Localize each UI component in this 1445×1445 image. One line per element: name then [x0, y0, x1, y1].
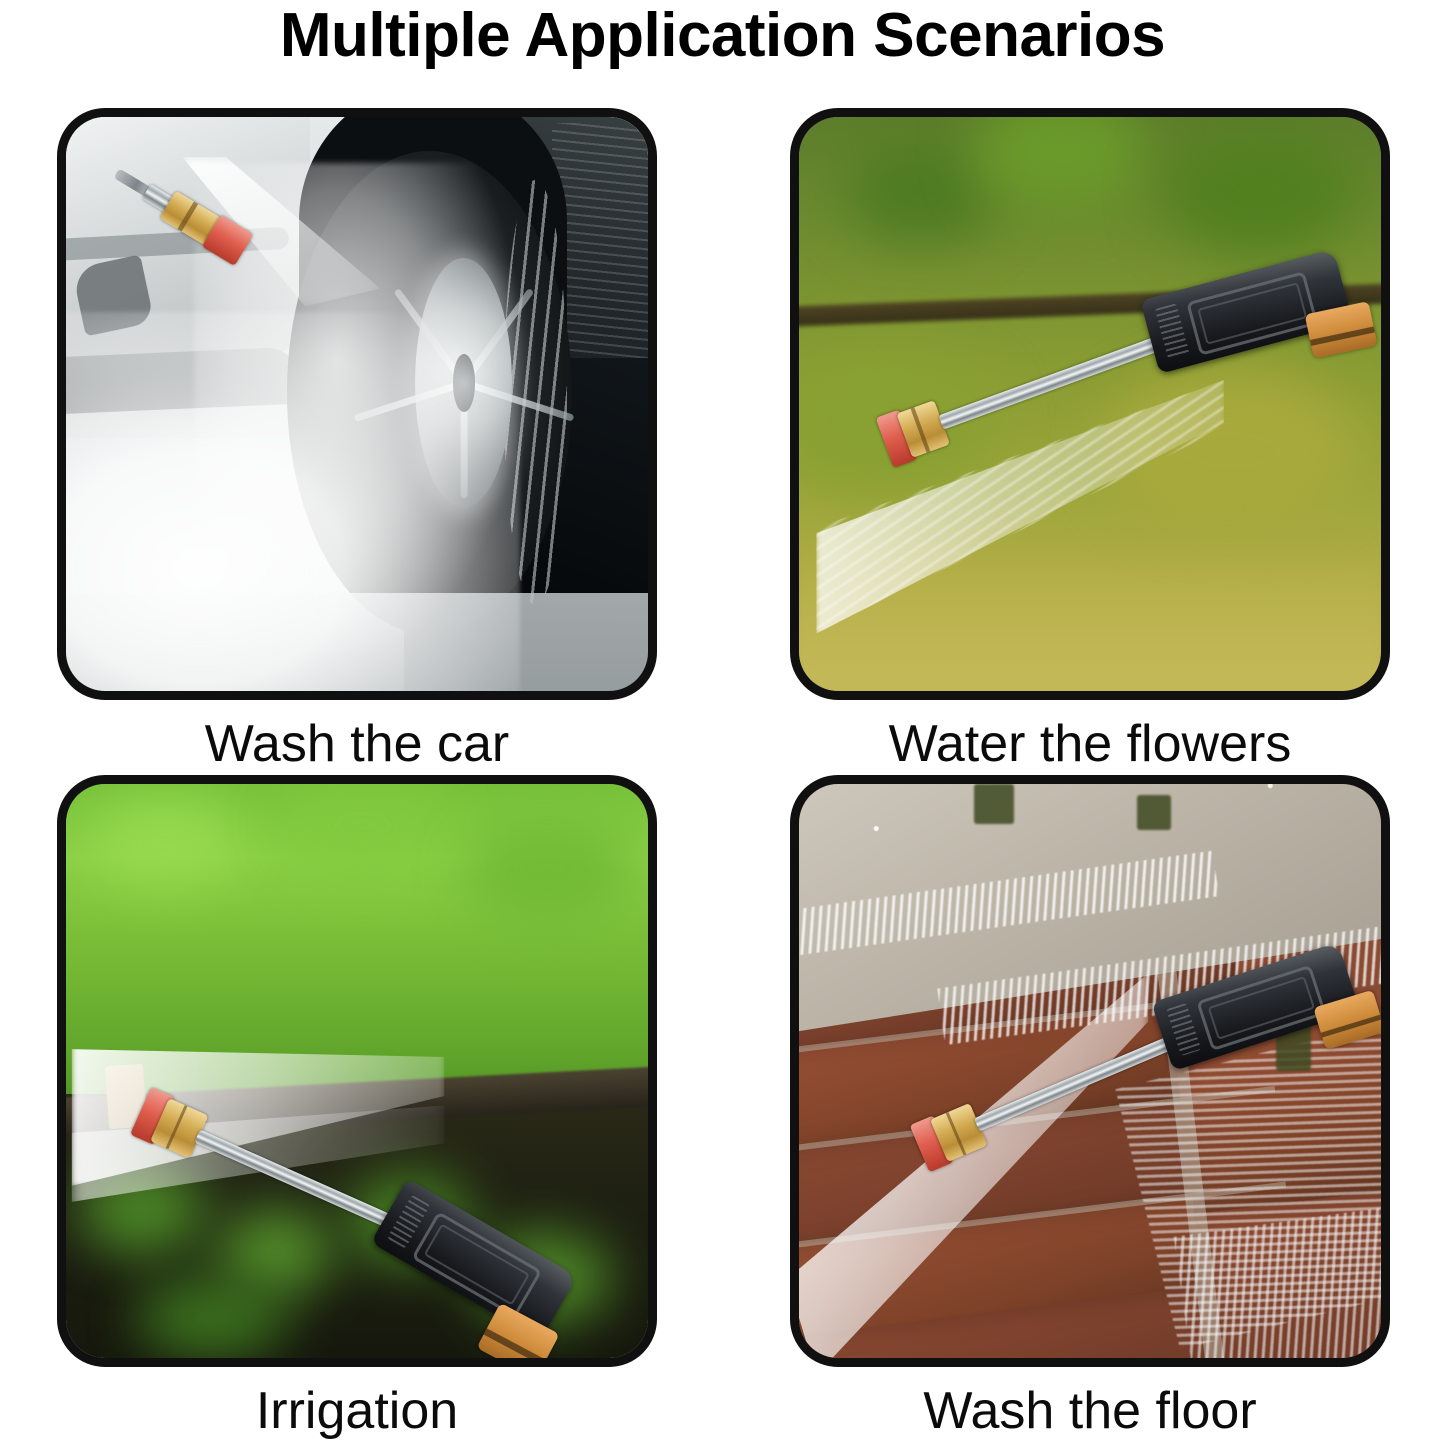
grip-ridges: [1155, 303, 1190, 359]
product-feature-page: Multiple Application Scenarios: [0, 0, 1445, 1445]
moss-patch: [974, 784, 1015, 824]
gun-panel: [1187, 270, 1319, 355]
scenario-caption: Irrigation: [57, 1381, 657, 1441]
scenario-caption: Water the flowers: [790, 714, 1390, 774]
car-wash-scene: [66, 117, 648, 691]
water-mist: [66, 312, 520, 691]
scenario-photo-irrigation: [57, 775, 657, 1367]
page-title: Multiple Application Scenarios: [0, 2, 1445, 70]
irrigation-scene: [66, 784, 648, 1358]
lawn-scene: [799, 117, 1381, 691]
scenario-card-wash-the-car[interactable]: Wash the car: [57, 108, 657, 774]
scenario-photo-wash-the-floor: [790, 775, 1390, 1367]
scenario-card-irrigation[interactable]: Irrigation: [57, 775, 657, 1441]
grass-clump: [462, 818, 637, 921]
floor-scene: [799, 784, 1381, 1358]
moss-patch: [1137, 795, 1172, 829]
foliage-blob: [974, 117, 1149, 209]
scenario-photo-water-the-flowers: [790, 108, 1390, 700]
scenario-caption: Wash the car: [57, 714, 657, 774]
scenario-photo-wash-the-car: [57, 108, 657, 700]
scenario-grid: Wash the car: [57, 108, 1387, 1398]
grip-ridges: [1166, 1004, 1202, 1057]
scenario-card-wash-the-floor[interactable]: Wash the floor: [790, 775, 1390, 1441]
grass-clump: [89, 795, 240, 887]
seedling: [136, 1278, 287, 1358]
scenario-card-water-the-flowers[interactable]: Water the flowers: [790, 108, 1390, 774]
scenario-caption: Wash the floor: [790, 1381, 1390, 1441]
